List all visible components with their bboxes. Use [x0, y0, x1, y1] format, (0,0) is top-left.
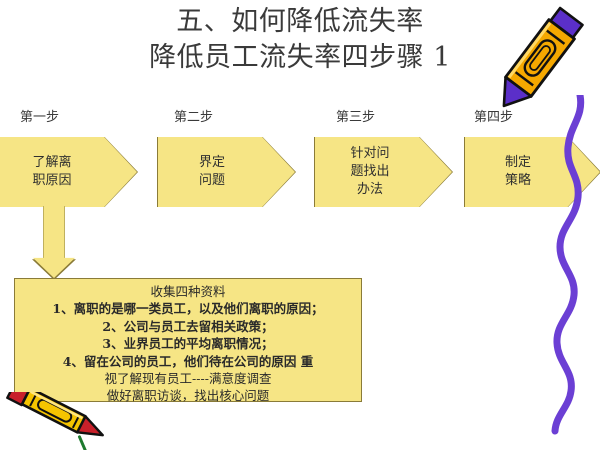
step-label-3: 第三步 [336, 110, 375, 126]
info-box-line-2: 2、公司与员工去留相关政策； [19, 318, 357, 335]
chevron-arrow-3[interactable] [315, 137, 452, 207]
step-label-4: 第四步 [474, 110, 513, 126]
step-label-2: 第二步 [174, 110, 213, 126]
info-box-line-6: 做好离职访谈，找出核心问题 [19, 387, 357, 404]
title-line-1: 五、如何降低流失率 [0, 4, 600, 40]
info-box-line-3: 3、业界员工的平均离职情况； [19, 335, 357, 352]
down-arrow-icon [33, 206, 75, 278]
slide-canvas: 五、如何降低流失率 降低员工流失率四步骤 1 第一步 第二步 第三步 第四步 了… [0, 0, 600, 450]
info-box-line-1: 1、离职的是哪一类员工，以及他们离职的原因； [19, 300, 357, 317]
info-box-line-4: 4、留在公司的员工，他们待在公司的原因 重 [19, 353, 357, 370]
chevron-arrow-4[interactable] [465, 137, 600, 207]
title-line-2: 降低员工流失率四步骤 1 [0, 40, 600, 76]
page-title: 五、如何降低流失率 降低员工流失率四步骤 1 [0, 4, 600, 76]
step-label-1: 第一步 [20, 110, 59, 126]
info-box-heading: 收集四种资料 [19, 283, 357, 300]
down-arrow-connector [32, 206, 76, 280]
info-box: 收集四种资料 1、离职的是哪一类员工，以及他们离职的原因； 2、公司与员工去留相… [14, 278, 362, 402]
chevron-arrow-2[interactable] [158, 137, 295, 207]
chevron-arrow-1[interactable] [0, 137, 137, 207]
info-box-line-5: 视了解现有员工----满意度调查 [19, 370, 357, 387]
